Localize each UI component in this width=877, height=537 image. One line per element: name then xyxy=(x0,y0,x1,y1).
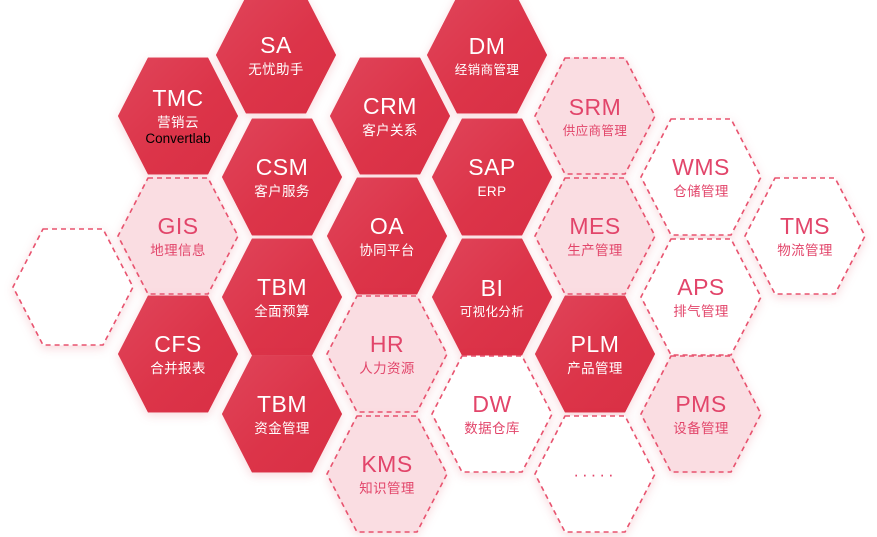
hex-tile-aps[interactable]: APS排气管理 xyxy=(641,238,761,356)
hex-tile-wms[interactable]: WMS仓储管理 xyxy=(641,118,761,236)
hex-code-label: OA xyxy=(370,213,404,240)
hex-code-label: PMS xyxy=(675,391,726,418)
hex-code-label: GIS xyxy=(157,213,198,240)
hex-code-label: CRM xyxy=(363,93,417,120)
hex-tile-tmc[interactable]: TMC营销云Convertlab xyxy=(118,57,238,175)
hex-code-label: TMC xyxy=(152,85,203,112)
hex-name-label: 合并报表 xyxy=(150,361,206,377)
hex-tile-cfs[interactable]: CFS合并报表 xyxy=(118,295,238,413)
hex-name-label: 产品管理 xyxy=(567,361,623,377)
hex-code-label: SRM xyxy=(569,94,622,121)
hex-name-label: 全面预算 xyxy=(254,304,310,320)
hex-code-label: MES xyxy=(569,213,620,240)
hex-tile-more[interactable]: ····· xyxy=(535,415,655,533)
hex-code-label: BI xyxy=(481,275,504,302)
hex-code-label: SA xyxy=(260,32,292,59)
hex-code-label: TBM xyxy=(257,391,307,418)
hex-tile-tbm1[interactable]: TBM全面预算 xyxy=(222,238,342,356)
hex-code-label: DM xyxy=(469,33,506,60)
hex-name-label: 资金管理 xyxy=(254,421,310,437)
hex-tile-srm[interactable]: SRM供应商管理 xyxy=(535,57,655,175)
hex-tile-oa[interactable]: OA协同平台 xyxy=(327,177,447,295)
hex-name-label: 供应商管理 xyxy=(563,124,628,139)
hex-tile-tms[interactable]: TMS物流管理 xyxy=(745,177,865,295)
hex-name-label: 客户关系 xyxy=(362,123,418,139)
hex-tile-csm[interactable]: CSM客户服务 xyxy=(222,118,342,236)
hex-name-label: 客户服务 xyxy=(254,184,310,200)
hex-name-label: 知识管理 xyxy=(359,481,415,497)
hex-tile-gis[interactable]: GIS地理信息 xyxy=(118,177,238,295)
hex-code-label: KMS xyxy=(361,451,412,478)
hex-tile-mes[interactable]: MES生产管理 xyxy=(535,177,655,295)
hex-name-label: 协同平台 xyxy=(359,243,415,259)
hex-tile-bi[interactable]: BI可视化分析 xyxy=(432,238,552,356)
hex-code-label: WMS xyxy=(672,154,730,181)
hex-name-label: 地理信息 xyxy=(150,243,206,259)
hex-code-label: TMS xyxy=(780,213,830,240)
hex-tile-kms[interactable]: KMS知识管理 xyxy=(327,415,447,533)
hex-tile-hr[interactable]: HR人力资源 xyxy=(327,295,447,413)
hex-name-label: 营销云 xyxy=(157,115,199,131)
hex-name-label: ERP xyxy=(478,184,507,200)
hex-name-label: 可视化分析 xyxy=(460,305,525,320)
hex-name-label: 生产管理 xyxy=(567,243,623,259)
hex-tile-tbm2[interactable]: TBM资金管理 xyxy=(222,355,342,473)
hex-ellipsis: ····· xyxy=(573,466,616,483)
hex-tile-pms[interactable]: PMS设备管理 xyxy=(641,355,761,473)
hex-tile-sap[interactable]: SAPERP xyxy=(432,118,552,236)
hex-name-label: 经销商管理 xyxy=(455,63,520,78)
hex-code-label: CSM xyxy=(256,154,309,181)
hex-tile-empty-left[interactable] xyxy=(13,228,133,346)
hex-code-label: SAP xyxy=(468,154,516,181)
hex-name-secondary-label: Convertlab xyxy=(145,131,210,147)
hex-code-label: APS xyxy=(677,274,725,301)
hex-name-label: 物流管理 xyxy=(777,243,833,259)
hex-name-label: 数据仓库 xyxy=(464,421,520,437)
hex-name-label: 仓储管理 xyxy=(673,184,729,200)
hex-code-label: CFS xyxy=(154,331,202,358)
hex-code-label: PLM xyxy=(571,331,620,358)
hex-tile-plm[interactable]: PLM产品管理 xyxy=(535,295,655,413)
hex-tile-dw[interactable]: DW数据仓库 xyxy=(432,355,552,473)
hex-name-label: 无忧助手 xyxy=(248,62,304,78)
hex-name-label: 设备管理 xyxy=(673,421,729,437)
hex-name-label: 排气管理 xyxy=(673,304,729,320)
hex-code-label: TBM xyxy=(257,274,307,301)
hexagon-diagram: SA无忧助手DM经销商管理TMC营销云ConvertlabCRM客户关系SRM供… xyxy=(0,0,877,537)
hex-code-label: HR xyxy=(370,331,404,358)
hex-name-label: 人力资源 xyxy=(359,361,415,377)
hex-code-label: DW xyxy=(472,391,511,418)
